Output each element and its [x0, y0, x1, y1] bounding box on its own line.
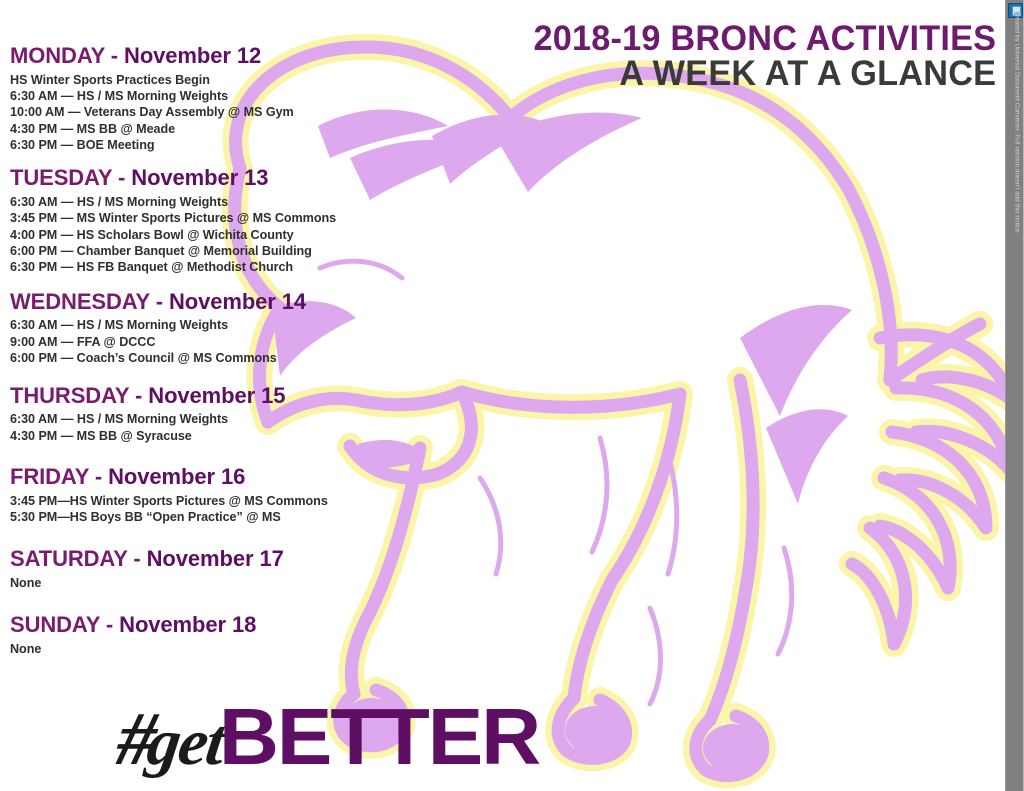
day-date: November 17 [147, 546, 284, 571]
day-separator: - [129, 383, 148, 408]
flyer-header: 2018-19 BRONC ACTIVITIES A WEEK AT A GLA… [524, 22, 996, 90]
day-heading-friday: FRIDAY - November 16 [10, 465, 410, 490]
event-item: 4:30 PM — MS BB @ Syracuse [10, 428, 410, 444]
day-name: WEDNESDAY [10, 289, 150, 314]
event-item: HS Winter Sports Practices Begin [10, 72, 410, 88]
day-heading-sunday: SUNDAY - November 18 [10, 613, 410, 638]
event-item: 9:00 AM — FFA @ DCCC [10, 334, 410, 350]
event-item: 6:30 AM — HS / MS Morning Weights [10, 411, 410, 427]
day-name: FRIDAY [10, 464, 89, 489]
day-date: November 18 [119, 612, 256, 637]
day-separator: - [105, 43, 124, 68]
event-item: 4:30 PM — MS BB @ Meade [10, 121, 410, 137]
day-block-sunday: SUNDAY - November 18 None [10, 613, 410, 657]
watermark-strip: Created by Universal Document Converter.… [1005, 0, 1024, 791]
day-heading-wednesday: WEDNESDAY - November 14 [10, 290, 410, 315]
day-date: November 13 [131, 165, 268, 190]
day-separator: - [100, 612, 119, 637]
day-block-tuesday: TUESDAY - November 13 6:30 AM — HS / MS … [10, 166, 410, 275]
day-block-saturday: SATURDAY - November 17 None [10, 547, 410, 591]
event-item: 6:30 AM — HS / MS Morning Weights [10, 194, 410, 210]
event-item: 6:30 AM — HS / MS Morning Weights [10, 88, 410, 104]
day-block-friday: FRIDAY - November 16 3:45 PM—HS Winter S… [10, 465, 410, 525]
day-date: November 14 [169, 289, 306, 314]
day-name: MONDAY [10, 43, 105, 68]
day-date: November 15 [148, 383, 285, 408]
day-name: TUESDAY [10, 165, 112, 190]
watermark-text: Created by Universal Document Converter.… [1014, 11, 1021, 181]
slogan-get-word: get [143, 705, 228, 781]
day-block-wednesday: WEDNESDAY - November 14 6:30 AM — HS / M… [10, 290, 410, 367]
event-item: 6:00 PM — Chamber Banquet @ Memorial Bui… [10, 243, 410, 259]
day-heading-saturday: SATURDAY - November 17 [10, 547, 410, 572]
flyer-page: 2018-19 BRONC ACTIVITIES A WEEK AT A GLA… [0, 0, 1024, 791]
header-title-secondary: A WEEK AT A GLANCE [533, 57, 996, 91]
event-item: 5:30 PM—HS Boys BB “Open Practice” @ MS [10, 509, 410, 525]
day-block-thursday: THURSDAY - November 15 6:30 AM — HS / MS… [10, 384, 410, 444]
event-item: 3:45 PM — MS Winter Sports Pictures @ MS… [10, 210, 410, 226]
event-item: 4:00 PM — HS Scholars Bowl @ Wichita Cou… [10, 227, 410, 243]
event-item: 6:30 PM — BOE Meeting [10, 137, 410, 153]
day-separator: - [150, 289, 169, 314]
day-heading-monday: MONDAY - November 12 [10, 44, 410, 69]
weekly-schedule-list: MONDAY - November 12 HS Winter Sports Pr… [10, 44, 410, 657]
header-title-primary: 2018-19 BRONC ACTIVITIES [533, 22, 996, 56]
event-item: 6:00 PM — Coach’s Council @ MS Commons [10, 350, 410, 366]
day-name: THURSDAY [10, 383, 129, 408]
day-name: SUNDAY [10, 612, 100, 637]
day-separator: - [127, 546, 146, 571]
day-block-monday: MONDAY - November 12 HS Winter Sports Pr… [10, 44, 410, 153]
day-separator: - [112, 165, 131, 190]
day-heading-thursday: THURSDAY - November 15 [10, 384, 410, 409]
day-date: November 12 [124, 43, 261, 68]
day-name: SATURDAY [10, 546, 127, 571]
event-item: None [10, 575, 410, 591]
event-item: 6:30 PM — HS FB Banquet @ Methodist Chur… [10, 259, 410, 275]
day-separator: - [89, 464, 108, 489]
event-item: None [10, 641, 410, 657]
get-better-slogan: #getBETTER [118, 691, 533, 783]
event-item: 6:30 AM — HS / MS Morning Weights [10, 317, 410, 333]
event-item: 10:00 AM — Veterans Day Assembly @ MS Gy… [10, 104, 410, 120]
day-date: November 16 [108, 464, 245, 489]
day-heading-tuesday: TUESDAY - November 13 [10, 166, 410, 191]
slogan-better-word: BETTER [218, 691, 538, 783]
event-item: 3:45 PM—HS Winter Sports Pictures @ MS C… [10, 493, 410, 509]
